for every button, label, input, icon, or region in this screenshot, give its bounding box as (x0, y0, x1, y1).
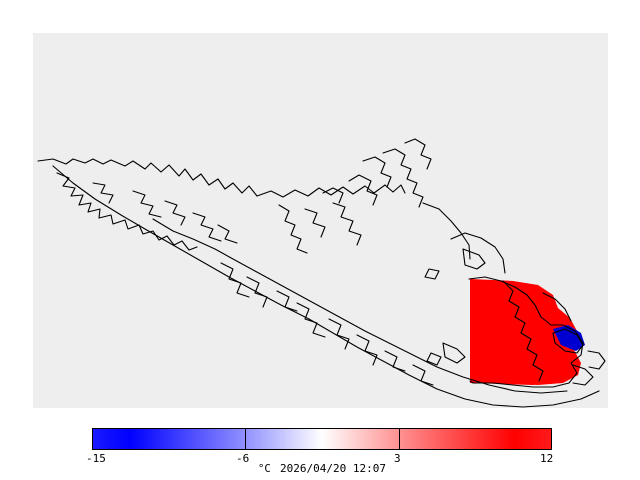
weather-map-page: IslandWeather.ca —— Experimental Dewpoin… (0, 0, 640, 480)
timestamp-label: 2026/04/20 12:07 (280, 462, 386, 475)
coastline-map (33, 33, 608, 408)
colorbar-container (92, 428, 552, 450)
colorbar-tick-label-max: 12 (540, 452, 553, 465)
colorbar-tick-label-min: -15 (86, 452, 106, 465)
colorbar-ticks (92, 428, 552, 450)
colorbar-tick (399, 428, 400, 450)
colorbar-unit-label: °C (258, 463, 271, 475)
colorbar-tick-label-3: 3 (394, 452, 401, 465)
colorbar-tick-label-2: -6 (236, 452, 249, 465)
colorbar-tick (245, 428, 246, 450)
map-panel[interactable] (33, 33, 608, 408)
